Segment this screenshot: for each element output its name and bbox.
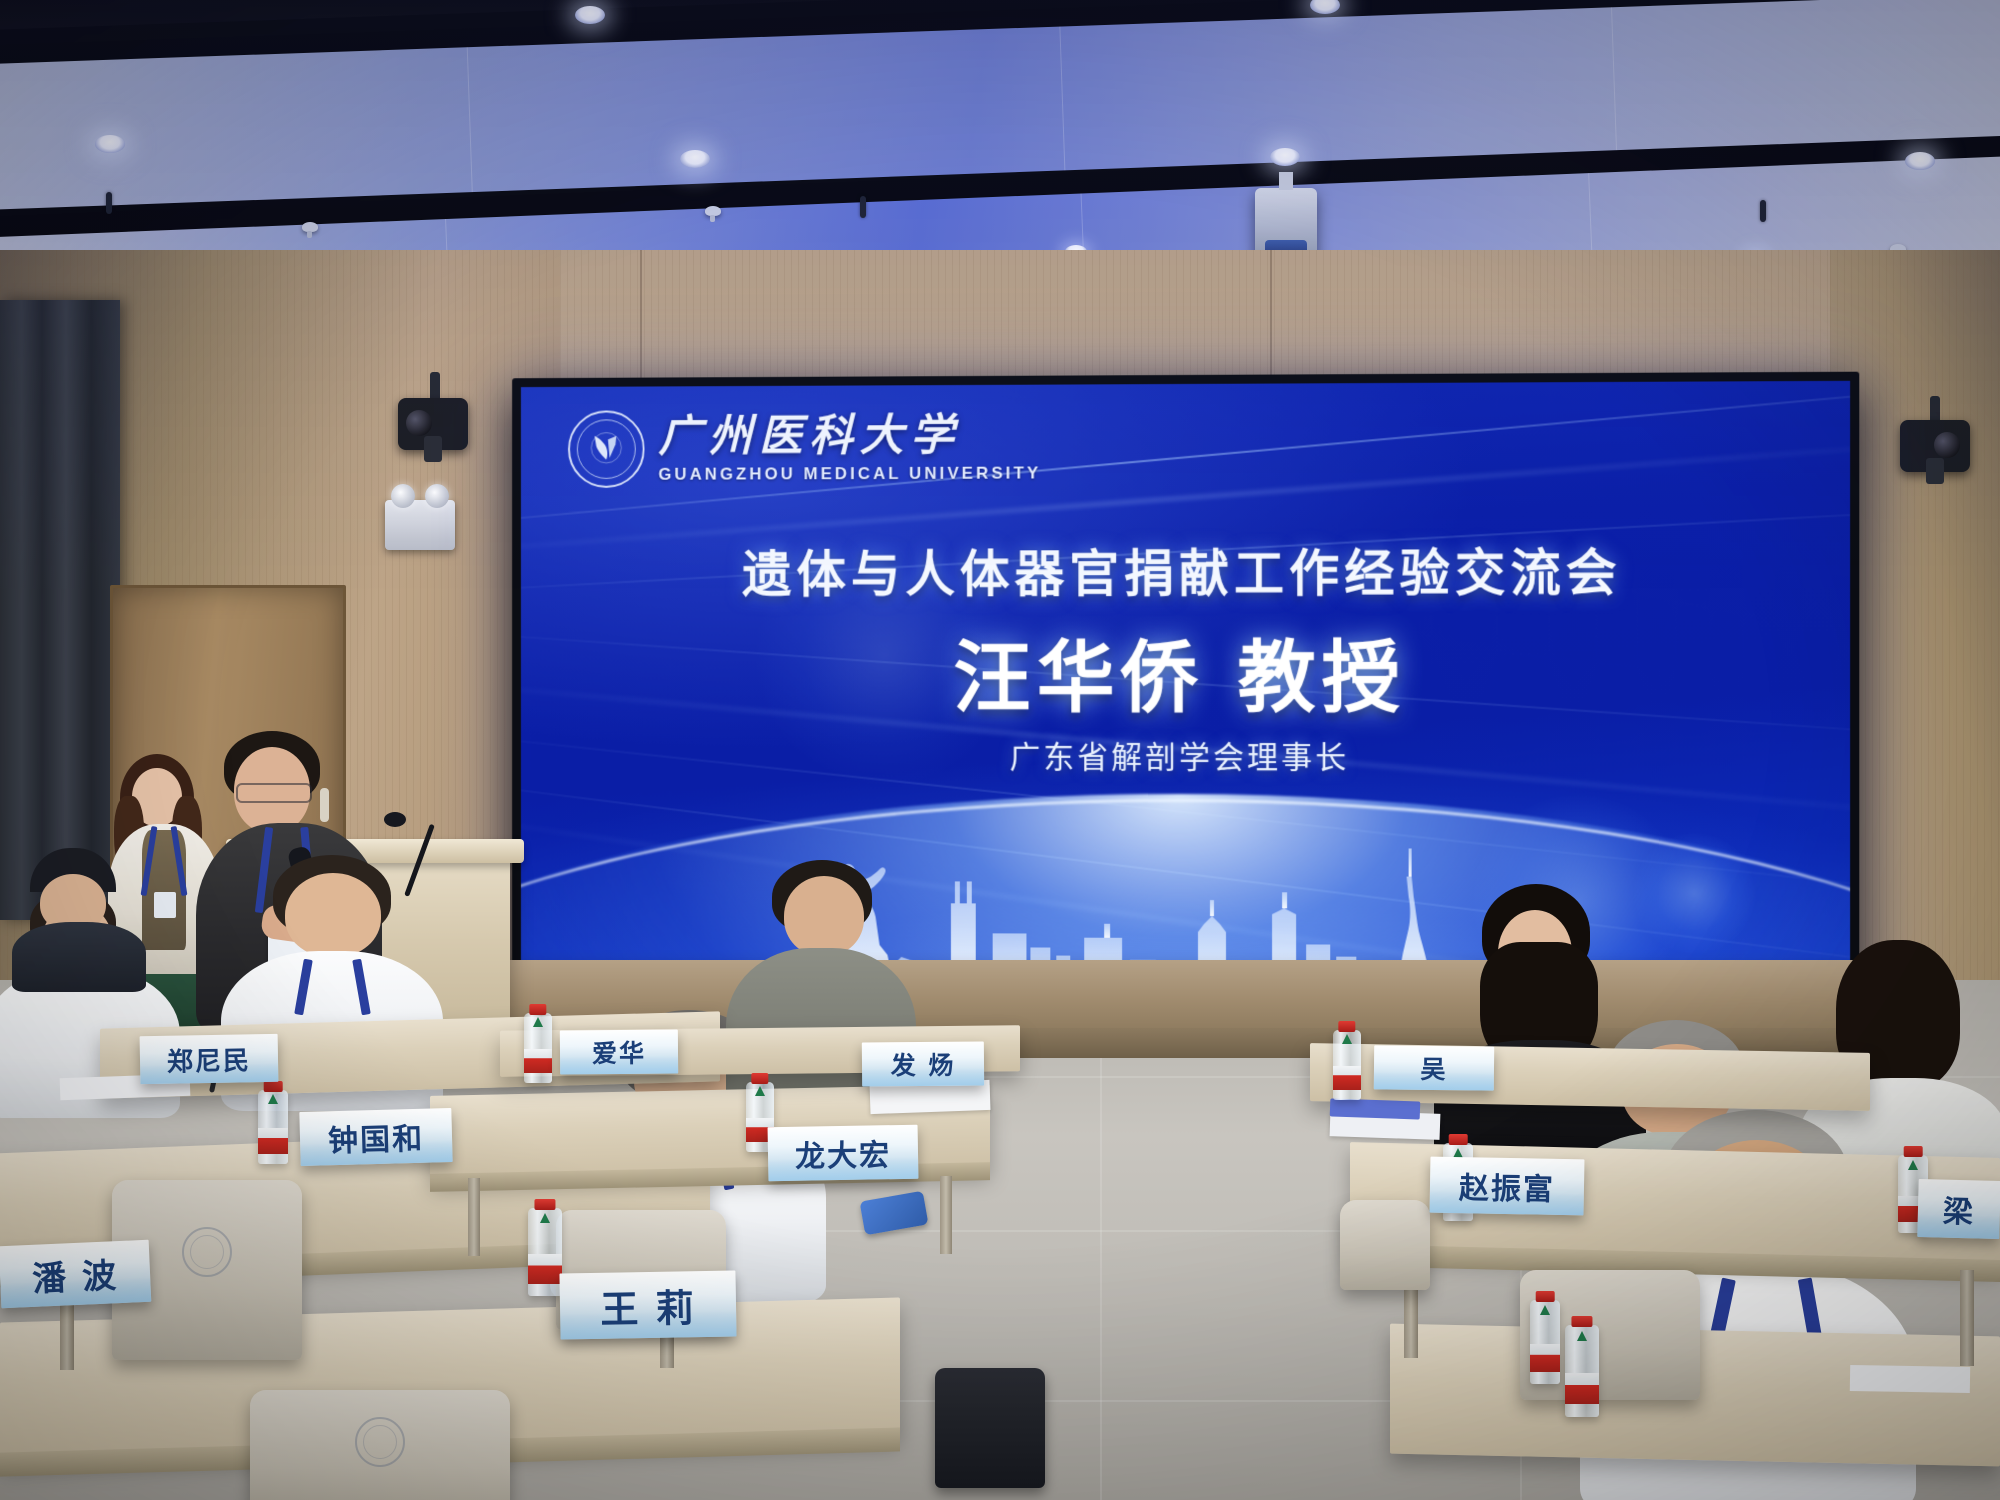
photo-scene: 广州医科大学 GUANGZHOU MEDICAL UNIVERSITY 遗体与人… [0, 0, 2000, 1500]
nameplate-text: 赵振富 [1459, 1163, 1556, 1209]
smoke-detector-icon [302, 222, 318, 232]
ceiling-hook [1760, 200, 1766, 222]
led-presentation-screen: 广州医科大学 GUANGZHOU MEDICAL UNIVERSITY 遗体与人… [512, 372, 1859, 1037]
ceiling-hook [860, 196, 866, 218]
ptz-camera-left [398, 398, 468, 450]
water-bottle[interactable] [1333, 1030, 1361, 1100]
ceiling-spotlight [680, 150, 710, 168]
window-curtain [0, 300, 120, 920]
eyeglasses-icon [236, 783, 312, 803]
nameplate-text: 龙大宏 [795, 1130, 892, 1176]
slide-speaker-affiliation: 广东省解剖学会理事长 [521, 732, 1850, 778]
nameplate: 吴 [1374, 1045, 1494, 1090]
nameplate: 龙大宏 [768, 1125, 919, 1182]
nameplate-text: 发 炀 [890, 1046, 955, 1083]
slide-surface: 广州医科大学 GUANGZHOU MEDICAL UNIVERSITY 遗体与人… [521, 381, 1850, 1027]
smoke-detector-icon [705, 206, 721, 216]
nameplate: 郑尼民 [140, 1034, 279, 1084]
nameplate: 发 炀 [862, 1041, 984, 1086]
nameplate: 梁 [1917, 1179, 2000, 1239]
ceiling-spotlight [95, 135, 125, 153]
paper-sheet [1850, 1365, 1970, 1393]
ceiling-spotlight [575, 6, 605, 24]
nameplate-text: 王 莉 [600, 1277, 696, 1334]
nameplate: 赵振富 [1430, 1157, 1585, 1216]
nameplate-text: 爱华 [592, 1034, 646, 1070]
ceiling-spotlight [1905, 152, 1935, 170]
nameplate-text: 潘 波 [31, 1248, 119, 1301]
ptz-camera-right [1900, 420, 1970, 472]
water-bottle[interactable] [258, 1090, 288, 1164]
desk-leg [468, 1178, 480, 1256]
audience-back-cap [14, 848, 144, 988]
desk-leg [1960, 1270, 1974, 1366]
university-seal-icon [568, 410, 645, 488]
slide-speaker-name: 汪华侨 教授 [521, 615, 1850, 728]
water-bottle[interactable] [524, 1013, 552, 1083]
slide-title: 遗体与人体器官捐献工作经验交流会 [521, 532, 1850, 607]
seal-mark-icon [590, 431, 623, 465]
backpack [935, 1368, 1045, 1488]
ceiling-hook [106, 192, 112, 214]
nameplate-text: 吴 [1420, 1050, 1447, 1086]
nameplate: 爱华 [560, 1029, 678, 1074]
auditorium-chair[interactable] [1340, 1200, 1430, 1290]
desk-leg [940, 1176, 952, 1254]
nameplate-text: 梁 [1942, 1187, 1975, 1232]
water-bottle[interactable] [528, 1208, 562, 1296]
nameplate: 潘 波 [0, 1240, 151, 1308]
nameplate-text: 钟国和 [327, 1114, 424, 1160]
logo-english-name: GUANGZHOU MEDICAL UNIVERSITY [658, 464, 1041, 482]
ceiling-spotlight [1270, 148, 1300, 166]
nameplate: 钟国和 [299, 1108, 452, 1166]
logo-chinese-name: 广州医科大学 [658, 414, 1041, 459]
water-bottle[interactable] [1565, 1325, 1599, 1417]
emergency-light [385, 500, 455, 550]
university-logo: 广州医科大学 GUANGZHOU MEDICAL UNIVERSITY [568, 409, 1041, 488]
nameplate: 王 莉 [559, 1270, 736, 1339]
nameplate-text: 郑尼民 [167, 1040, 252, 1078]
folder [1330, 1098, 1421, 1119]
auditorium-chair[interactable] [250, 1390, 510, 1500]
water-bottle[interactable] [1530, 1300, 1560, 1384]
